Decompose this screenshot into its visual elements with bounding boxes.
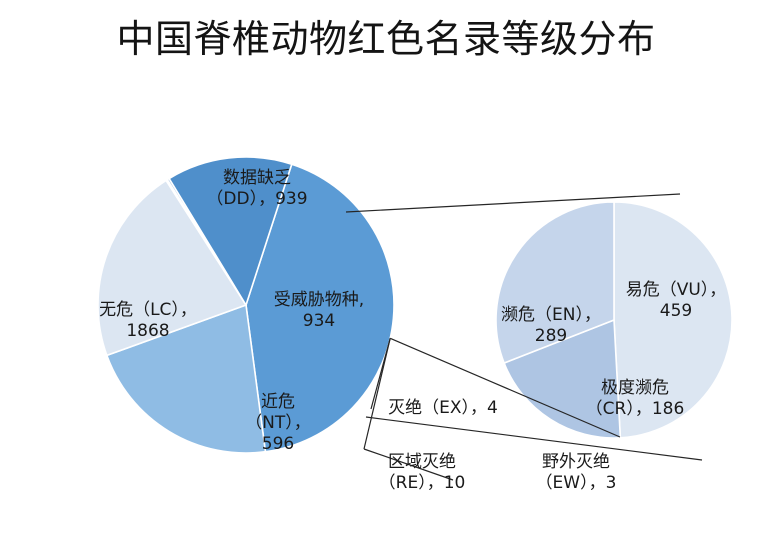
pie-slice-vu[interactable]: 易危（VU）, 459 — [614, 202, 732, 438]
main-pie: 无危（LC）, 1868数据缺乏（DD）, 939受威胁物种, 934灭绝（EX… — [98, 157, 394, 453]
data-label-ex: 灭绝（EX），4 — [378, 398, 508, 419]
data-label-ew: 野外灭绝 （EW），3 — [511, 452, 641, 494]
data-label-re: 区域灭绝 （RE），10 — [357, 452, 487, 494]
chart-slide: 中国脊椎动物红色名录等级分布 无危（LC）, 1868数据缺乏（DD）, 939… — [0, 0, 772, 535]
secondary-pie: 易危（VU）, 459极度濒危（CR）, 186濒危（EN）, 289 — [496, 202, 732, 438]
